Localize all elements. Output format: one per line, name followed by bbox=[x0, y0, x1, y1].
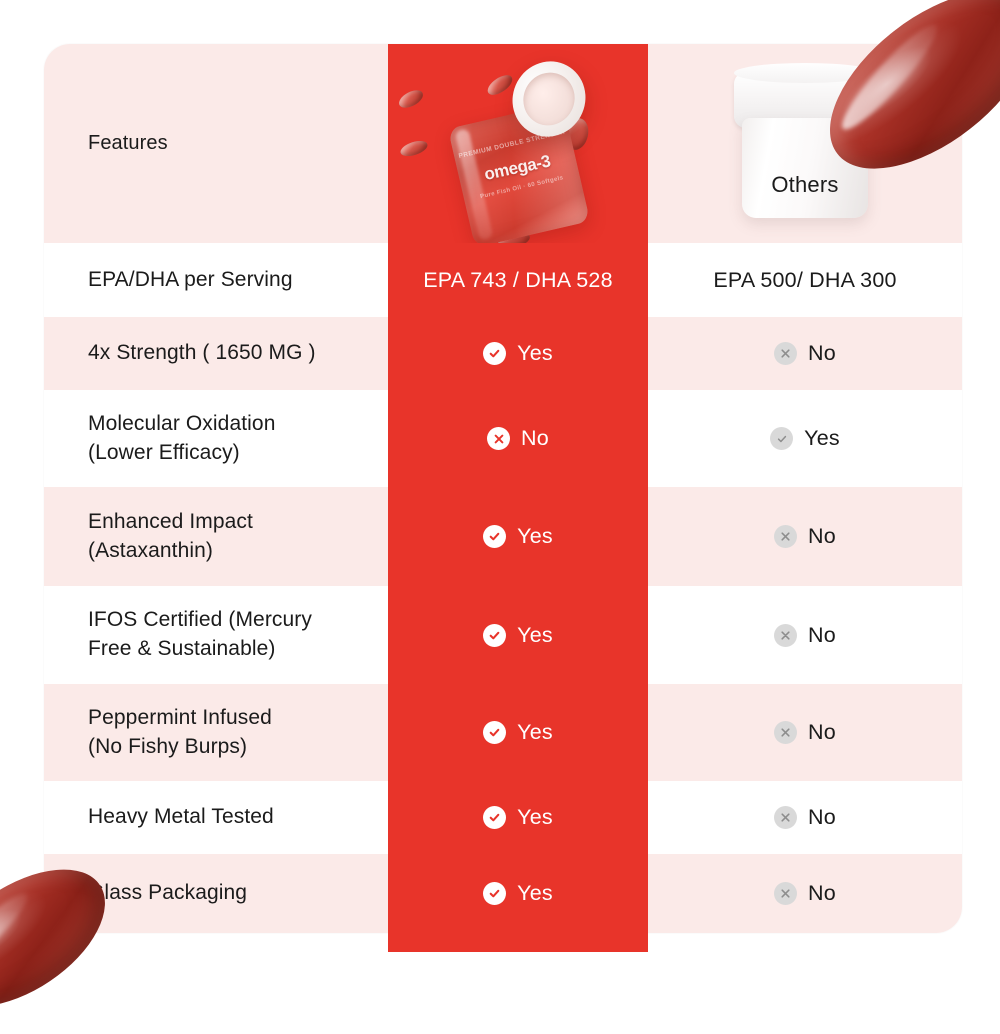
cross-icon bbox=[774, 342, 797, 365]
others-yes-mark: Yes bbox=[770, 426, 840, 451]
feature-label-line2: (Lower Efficacy) bbox=[88, 441, 240, 464]
feature-label-line1: Molecular Oxidation bbox=[88, 412, 276, 435]
feature-label: Heavy Metal Tested bbox=[88, 803, 274, 832]
others-cell: No bbox=[648, 586, 962, 684]
feature-cell: Peppermint Infused (No Fishy Burps) bbox=[44, 684, 388, 781]
others-cell: No bbox=[648, 487, 962, 586]
ours-value: EPA 743 / DHA 528 bbox=[423, 268, 612, 293]
others-cell: No bbox=[648, 854, 962, 933]
others-value: EPA 500/ DHA 300 bbox=[713, 268, 896, 293]
others-value: No bbox=[808, 720, 836, 745]
cross-icon bbox=[774, 721, 797, 744]
ours-cell: Yes bbox=[388, 487, 648, 586]
others-value: No bbox=[808, 623, 836, 648]
floating-softgel-icon bbox=[396, 87, 426, 112]
ours-yes-mark: Yes bbox=[483, 524, 553, 549]
cross-icon bbox=[487, 427, 510, 450]
ours-cell: EPA 743 / DHA 528 bbox=[388, 243, 648, 317]
ours-value: No bbox=[521, 426, 549, 451]
check-icon bbox=[483, 525, 506, 548]
feature-label: IFOS Certified (Mercury Free & Sustainab… bbox=[88, 606, 312, 663]
feature-label: Peppermint Infused (No Fishy Burps) bbox=[88, 704, 272, 761]
header-cell-features: Features bbox=[44, 44, 388, 243]
others-cell: No bbox=[648, 781, 962, 854]
feature-label-line2: (No Fishy Burps) bbox=[88, 735, 247, 758]
others-value: No bbox=[808, 805, 836, 830]
ours-value: Yes bbox=[517, 881, 553, 906]
ours-cell: Yes bbox=[388, 684, 648, 781]
ours-value: Yes bbox=[517, 623, 553, 648]
comparison-table-page: Features Others EPA/DHA per Serving bbox=[0, 0, 1000, 1000]
features-column-title: Features bbox=[88, 130, 168, 157]
check-icon bbox=[483, 721, 506, 744]
others-value: Yes bbox=[804, 426, 840, 451]
others-no-mark: No bbox=[774, 720, 836, 745]
others-cell: EPA 500/ DHA 300 bbox=[648, 243, 962, 317]
feature-label: EPA/DHA per Serving bbox=[88, 266, 293, 295]
cross-icon bbox=[774, 882, 797, 905]
cross-icon bbox=[774, 624, 797, 647]
others-column-title: Others bbox=[720, 172, 890, 198]
ours-value: Yes bbox=[517, 720, 553, 745]
feature-label-line1: Enhanced Impact bbox=[88, 510, 253, 533]
product-jar-illustration: PREMIUM DOUBLE STRENGTH omega-3 Pure Fis… bbox=[388, 44, 648, 243]
feature-label: Enhanced Impact (Astaxanthin) bbox=[88, 508, 253, 565]
others-cell: No bbox=[648, 684, 962, 781]
feature-label: 4x Strength ( 1650 MG ) bbox=[88, 339, 316, 368]
ours-value: Yes bbox=[517, 524, 553, 549]
feature-cell: 4x Strength ( 1650 MG ) bbox=[44, 317, 388, 390]
ours-cell: No bbox=[388, 390, 648, 487]
ours-value: Yes bbox=[517, 805, 553, 830]
ours-cell: Yes bbox=[388, 317, 648, 390]
others-no-mark: No bbox=[774, 341, 836, 366]
ours-no-mark: No bbox=[487, 426, 549, 451]
feature-label: Molecular Oxidation (Lower Efficacy) bbox=[88, 410, 276, 467]
others-no-mark: No bbox=[774, 881, 836, 906]
check-icon bbox=[770, 427, 793, 450]
ours-cell: Yes bbox=[388, 586, 648, 684]
check-icon bbox=[483, 342, 506, 365]
check-icon bbox=[483, 882, 506, 905]
others-no-mark: No bbox=[774, 623, 836, 648]
ours-cell: Yes bbox=[388, 781, 648, 854]
feature-label-line1: IFOS Certified (Mercury bbox=[88, 608, 312, 631]
others-value: No bbox=[808, 341, 836, 366]
others-value: No bbox=[808, 524, 836, 549]
feature-cell: Enhanced Impact (Astaxanthin) bbox=[44, 487, 388, 586]
ours-value: Yes bbox=[517, 341, 553, 366]
ours-yes-mark: Yes bbox=[483, 805, 553, 830]
ours-yes-mark: Yes bbox=[483, 623, 553, 648]
feature-cell: Molecular Oxidation (Lower Efficacy) bbox=[44, 390, 388, 487]
floating-softgel-icon bbox=[399, 138, 430, 159]
floating-softgel-icon bbox=[484, 71, 515, 98]
ours-yes-mark: Yes bbox=[483, 720, 553, 745]
feature-label-line2: (Astaxanthin) bbox=[88, 539, 213, 562]
ours-yes-mark: Yes bbox=[483, 341, 553, 366]
feature-label-line1: Peppermint Infused bbox=[88, 706, 272, 729]
ours-column-footer bbox=[388, 933, 648, 952]
ours-cell: Yes bbox=[388, 854, 648, 933]
ours-product-header: PREMIUM DOUBLE STRENGTH omega-3 Pure Fis… bbox=[388, 44, 648, 243]
others-cell: Yes bbox=[648, 390, 962, 487]
feature-cell: IFOS Certified (Mercury Free & Sustainab… bbox=[44, 586, 388, 684]
others-cell: No bbox=[648, 317, 962, 390]
cross-icon bbox=[774, 806, 797, 829]
ours-yes-mark: Yes bbox=[483, 881, 553, 906]
feature-cell: EPA/DHA per Serving bbox=[44, 243, 388, 317]
others-no-mark: No bbox=[774, 805, 836, 830]
feature-label-line2: Free & Sustainable) bbox=[88, 637, 276, 660]
feature-label: Glass Packaging bbox=[88, 879, 247, 908]
others-no-mark: No bbox=[774, 524, 836, 549]
others-value: No bbox=[808, 881, 836, 906]
highlighted-product-column: PREMIUM DOUBLE STRENGTH omega-3 Pure Fis… bbox=[388, 44, 648, 952]
feature-cell: Heavy Metal Tested bbox=[44, 781, 388, 854]
cross-icon bbox=[774, 525, 797, 548]
check-icon bbox=[483, 806, 506, 829]
check-icon bbox=[483, 624, 506, 647]
